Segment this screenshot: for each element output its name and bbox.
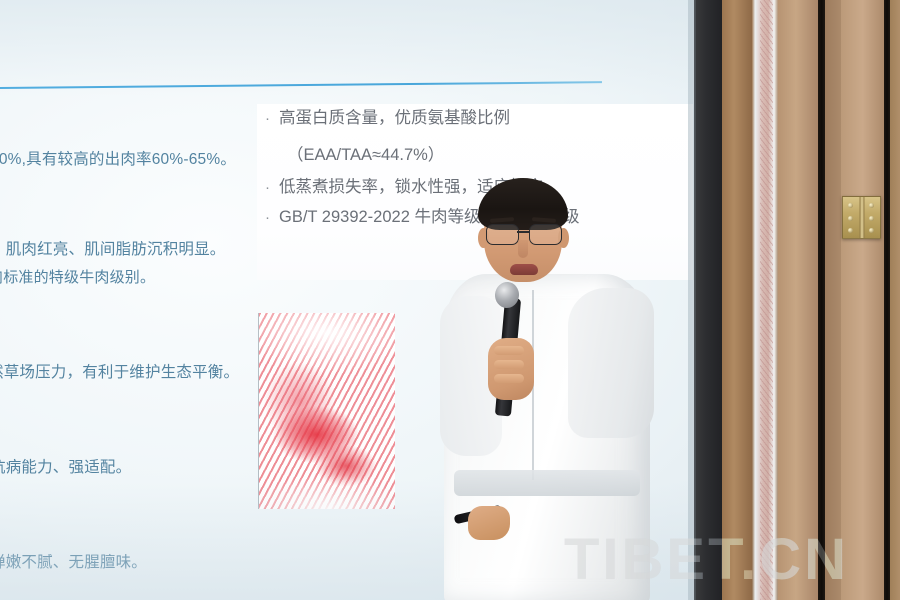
wood-slat-gap: [818, 0, 825, 600]
glass-mesh-texture: [760, 0, 773, 600]
wood-slat-wall: [722, 0, 900, 600]
slide-divider-rule: [0, 81, 602, 89]
slide-bullet-subtext: （EAA/TAA≈44.7%）: [265, 141, 695, 165]
screen-right-edge: [688, 0, 696, 600]
slide-bullet-item: ·高蛋白质含量，优质氨基酸比例: [265, 110, 695, 127]
hinge-screw: [869, 203, 874, 208]
wood-slat: [722, 0, 752, 600]
hinge-screw: [848, 228, 853, 233]
wood-slat: [890, 0, 900, 600]
hinge-screw: [869, 228, 874, 233]
speaker-finger: [494, 346, 524, 355]
slide-photo-beef-marbling: [259, 313, 395, 509]
slide-left-line: 弹嫩不腻、无腥膻味。: [0, 550, 147, 572]
door-hinge-icon: [842, 196, 881, 239]
wood-slat: [778, 0, 818, 600]
eyeglass-lens: [486, 224, 519, 245]
door-frame-dark-edge: [694, 0, 722, 600]
bullet-marker-icon: ·: [265, 111, 279, 126]
wood-slat: [825, 0, 841, 600]
slide-left-line: 10%,具有较高的出肉率60%-65%。: [0, 147, 236, 169]
slide-left-line: 然草场压力，有利于维护生态平衡。: [0, 360, 239, 382]
bullet-marker-icon: ·: [265, 180, 279, 195]
speaker-finger: [494, 374, 524, 383]
watermark-text: TIBET.CN: [564, 531, 849, 589]
beef-marbling-texture: [259, 313, 395, 509]
eyeglass-bridge: [517, 231, 529, 233]
speaker-nose: [518, 240, 528, 258]
speaker-right-arm: [568, 288, 654, 438]
hinge-screw: [869, 216, 874, 221]
speaker-lower-hand: [468, 506, 510, 540]
eyeglass-lens: [529, 224, 562, 245]
bullet-marker-icon: ·: [265, 210, 279, 225]
wood-slat: [841, 0, 884, 600]
slide-left-line: 肉标准的特级牛肉级别。: [0, 266, 155, 287]
slide-bullet-text: 高蛋白质含量，优质氨基酸比例: [279, 109, 510, 127]
speaker-finger: [494, 360, 524, 369]
jacket-waist-band: [454, 470, 640, 496]
screenshot-stage: 10%,具有较高的出肉率60%-65%。 、肌肉红亮、肌间脂肪沉积明显。 肉标准…: [0, 0, 900, 600]
hinge-screw: [848, 216, 853, 221]
speaker-mouth: [510, 264, 538, 275]
slide-left-line: 抗病能力、强适配。: [0, 455, 131, 477]
hinge-screw: [848, 203, 853, 208]
slide-left-line: 、肌肉红亮、肌间脂肪沉积明显。: [0, 237, 226, 259]
